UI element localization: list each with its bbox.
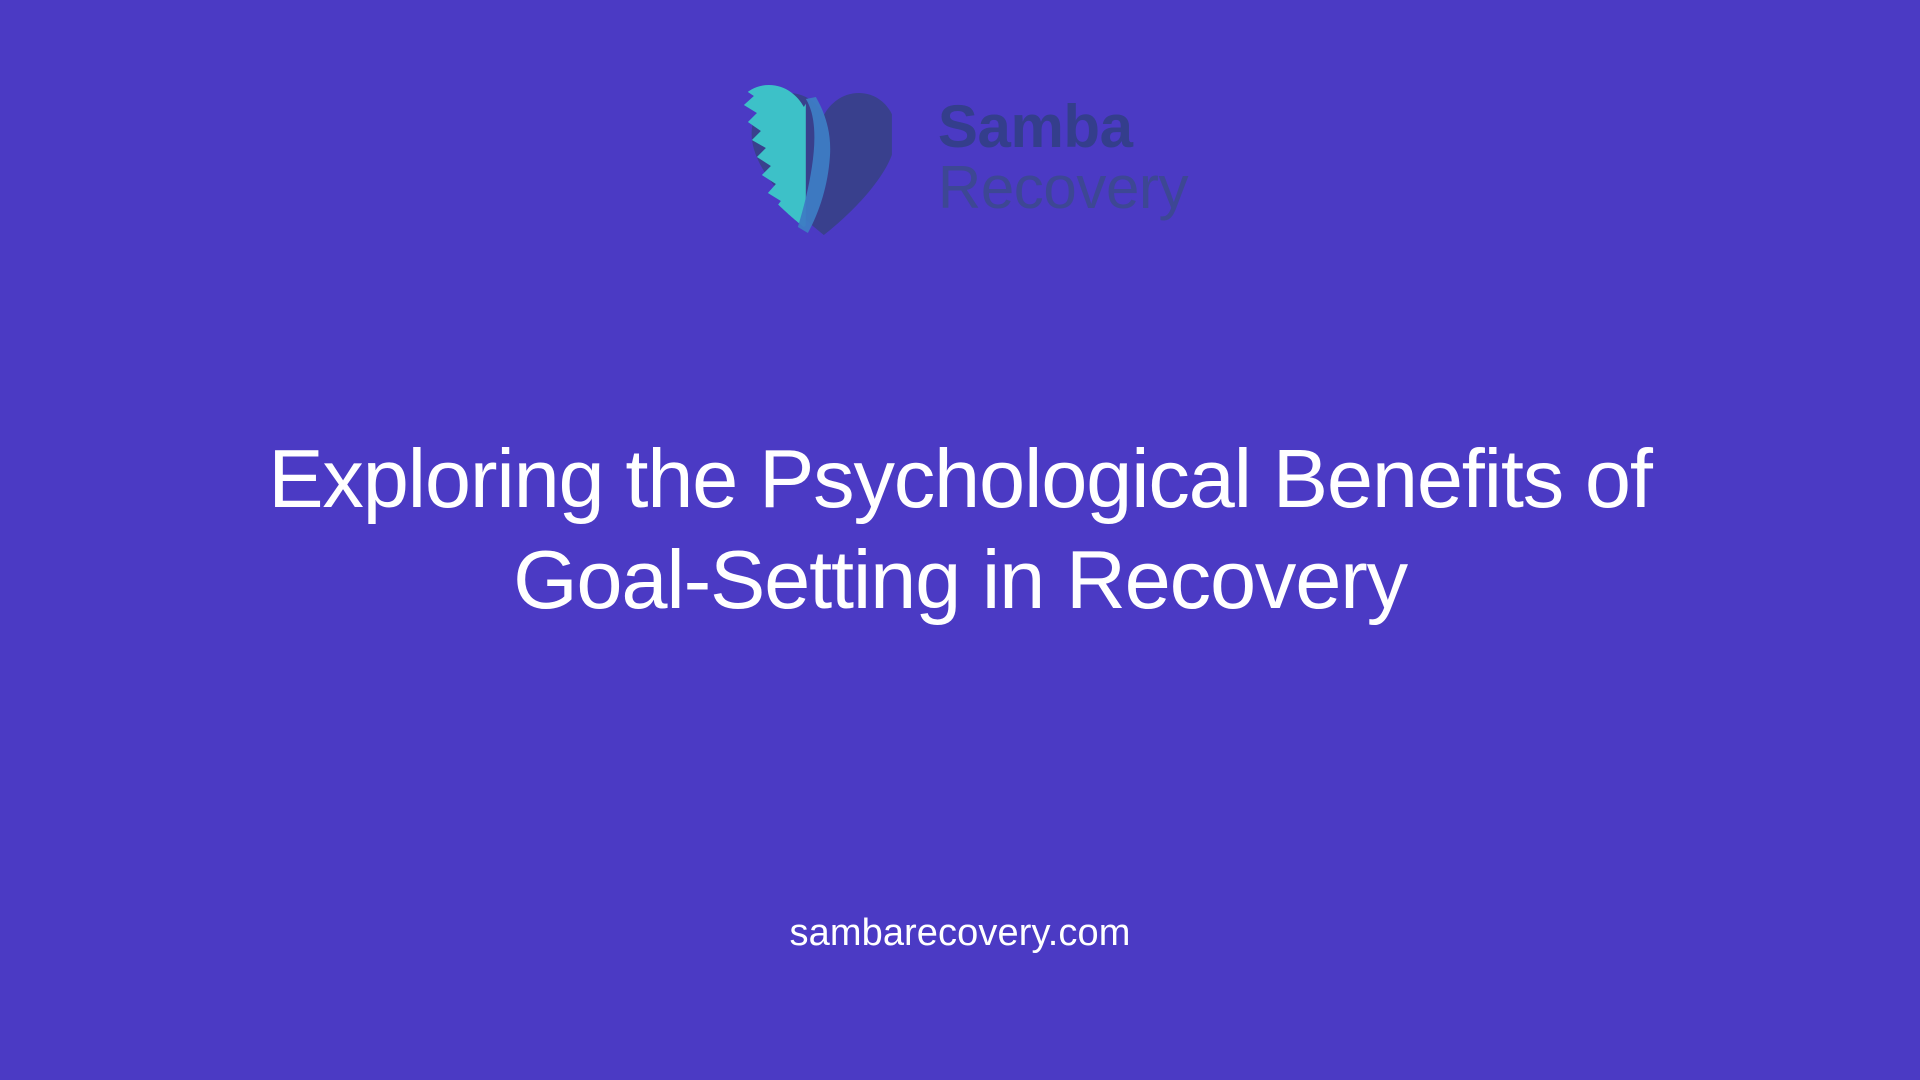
site-url[interactable]: sambarecovery.com [790, 912, 1131, 955]
brand-lockup[interactable]: Samba Recovery [732, 78, 1188, 242]
page-title: Exploring the Psychological Benefits of … [250, 428, 1670, 630]
article-title-card: Samba Recovery Exploring the Psychologic… [0, 0, 1920, 1080]
brand-name-secondary: Recovery [938, 159, 1188, 218]
brand-name-primary: Samba [938, 98, 1188, 157]
brand-wordmark: Samba Recovery [938, 98, 1188, 222]
split-heart-icon [732, 81, 892, 239]
